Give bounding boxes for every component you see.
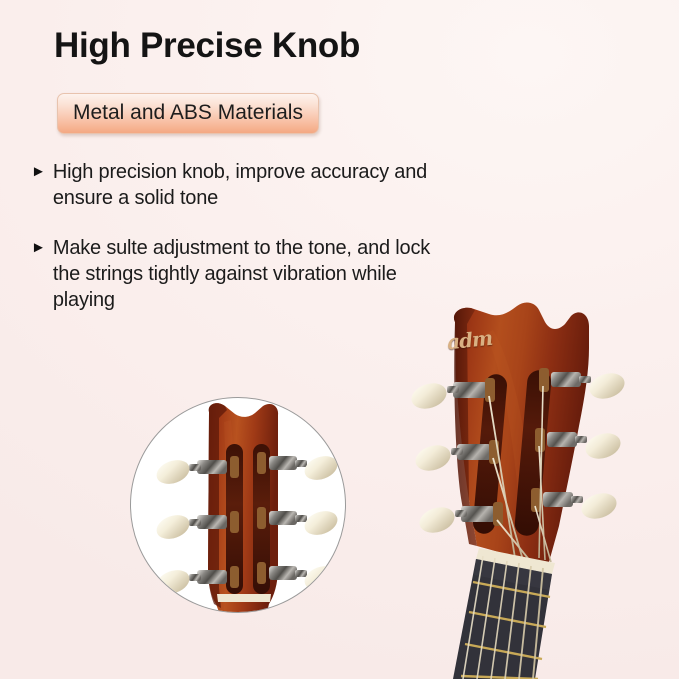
tuner-button	[408, 379, 450, 413]
tuner-button	[153, 566, 192, 598]
list-item: ► High precision knob, improve accuracy …	[31, 159, 451, 211]
inset-headstock-illustration	[131, 398, 345, 612]
list-item: ► Make sulte adjustment to the tone, and…	[31, 235, 451, 313]
page-title: High Precise Knob	[54, 26, 360, 66]
tuner-shaft	[451, 448, 463, 455]
tuner-gear-plate	[269, 456, 297, 470]
headstock-illustration	[393, 300, 679, 679]
product-feature-image: High Precise Knob Metal and ABS Material…	[0, 0, 679, 679]
triangle-right-icon: ►	[31, 235, 46, 261]
guitar-headstock-photo	[393, 300, 679, 679]
tuner-button	[153, 511, 192, 543]
tuner-button	[301, 452, 340, 484]
tuner-gear-plate	[547, 432, 577, 447]
tuner-shaft	[295, 515, 307, 522]
brand-logo: adm	[446, 326, 493, 355]
tuner-gear-plate	[197, 515, 227, 529]
tuner-shaft	[579, 376, 591, 383]
tuner-shaft	[455, 510, 467, 517]
tuner-closeup-inset	[130, 397, 346, 613]
tuner-post	[257, 452, 266, 474]
tuner-button	[416, 503, 458, 537]
tuner-shaft	[295, 570, 307, 577]
bullet-text: Make sulte adjustment to the tone, and l…	[53, 235, 451, 313]
tuner-shaft	[189, 574, 201, 581]
inset-nut	[217, 594, 271, 602]
tuner-button	[582, 429, 624, 463]
materials-badge: Metal and ABS Materials	[57, 93, 319, 134]
tuner-gear-plate	[197, 570, 227, 584]
tuner-gear-plate	[197, 460, 227, 474]
tuner-button	[578, 489, 620, 523]
tuner-gear-plate	[551, 372, 581, 387]
tuner-button	[586, 369, 628, 403]
tuner-post	[230, 566, 239, 588]
tuner-button	[153, 456, 192, 488]
tuner-shaft	[447, 386, 459, 393]
feature-bullet-list: ► High precision knob, improve accuracy …	[31, 159, 451, 337]
tuner-post	[230, 456, 239, 478]
tuner-button	[412, 441, 454, 475]
tuner-shaft	[571, 496, 583, 503]
tuner-post	[535, 428, 545, 452]
tuner-gear-plate	[269, 566, 297, 580]
tuner-post	[230, 511, 239, 533]
tuner-post	[257, 562, 266, 584]
tuner-gear-plate	[269, 511, 297, 525]
tuner-post	[539, 368, 549, 392]
bullet-text: High precision knob, improve accuracy an…	[53, 159, 451, 211]
tuner-gear-plate	[543, 492, 573, 507]
tuner-shaft	[295, 460, 307, 467]
tuner-post	[257, 507, 266, 529]
tuner-shaft	[189, 464, 201, 471]
tuner-button	[301, 507, 340, 539]
tuner-shaft	[189, 519, 201, 526]
triangle-right-icon: ►	[31, 159, 46, 185]
tuner-shaft	[575, 436, 587, 443]
tuner-button	[301, 562, 340, 594]
